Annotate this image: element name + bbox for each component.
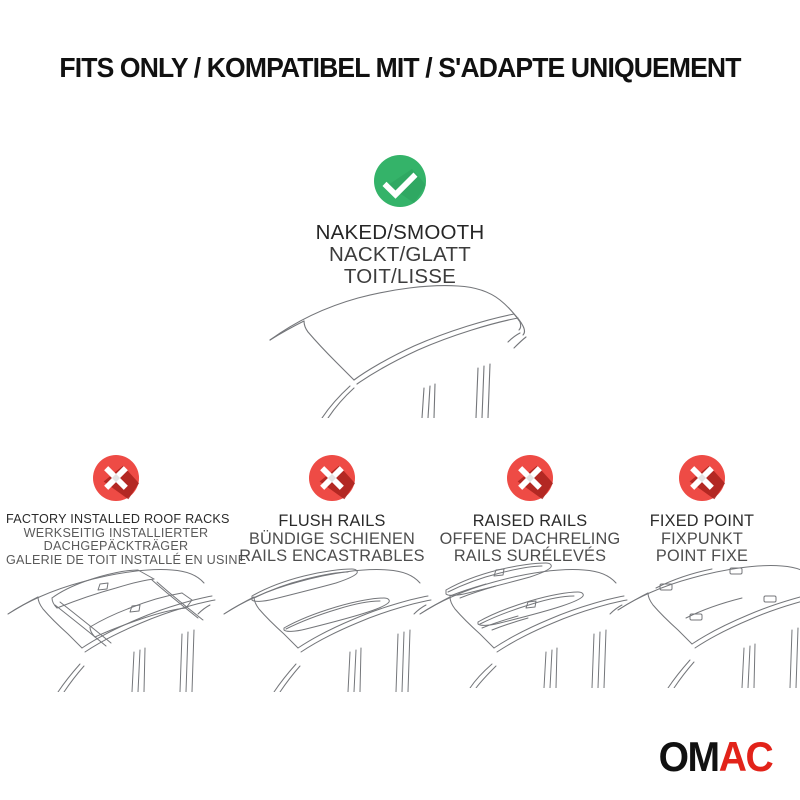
incompatible-4-label-en: FIXED POINT [622,513,782,531]
brand-logo: OMAC [658,736,772,778]
brand-logo-part2: AC [718,733,772,780]
page-title: FITS ONLY / KOMPATIBEL MIT / S'ADAPTE UN… [14,52,786,84]
car-roof-naked-smooth-illustration [262,278,562,418]
compatible-label-en: NAKED/SMOOTH [250,222,550,244]
incompatible-3-label-de: OFFENE DACHRELING [430,531,630,549]
fitment-infographic: FITS ONLY / KOMPATIBEL MIT / S'ADAPTE UN… [0,0,800,800]
car-roof-fixed-point-illustration [612,548,800,688]
compatible-label-de: NACKT/GLATT [250,244,550,266]
brand-logo-part1: OM [658,733,718,780]
incompatible-col-flush-rails: FLUSH RAILS BÜNDIGE SCHIENEN RAILS ENCAS… [232,455,432,566]
x-circle-icon [622,455,782,506]
incompatible-2-label-de: BÜNDIGE SCHIENEN [232,531,432,549]
car-roof-factory-rack-illustration [2,552,232,692]
incompatible-1-label-de1: WERKSEITIG INSTALLIERTER [6,527,226,541]
x-circle-icon [6,455,226,506]
compatible-block: NAKED/SMOOTH NACKT/GLATT TOIT/LISSE [250,155,550,288]
x-circle-icon [232,455,432,506]
x-circle-icon [430,455,630,506]
incompatible-2-label-en: FLUSH RAILS [232,513,432,531]
check-circle-icon [250,155,550,212]
incompatible-3-label-en: RAISED RAILS [430,513,630,531]
incompatible-col-factory-rack: FACTORY INSTALLED ROOF RACKS WERKSEITIG … [6,455,226,567]
car-roof-raised-rails-illustration [414,548,644,688]
incompatible-4-label-de: FIXPUNKT [622,531,782,549]
incompatible-1-label-en: FACTORY INSTALLED ROOF RACKS [6,513,226,527]
